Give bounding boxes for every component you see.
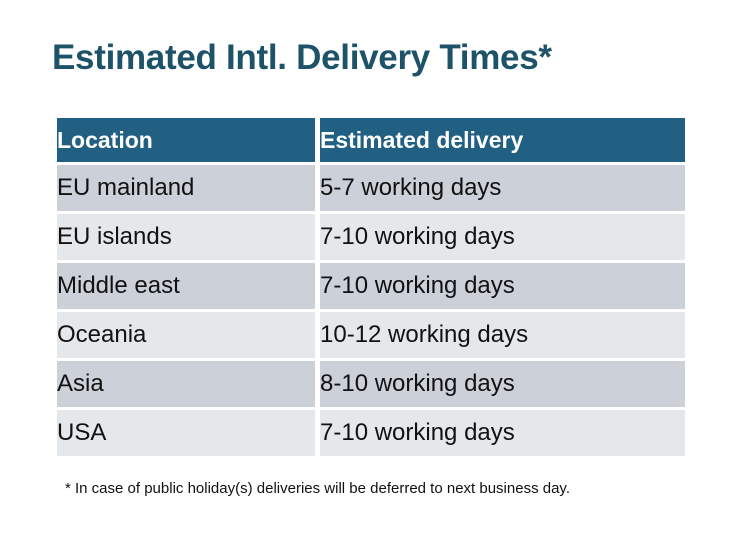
table-row: USA 7-10 working days [57, 410, 685, 456]
footnote-text: * In case of public holiday(s) deliverie… [65, 480, 570, 497]
cell-location: Oceania [57, 312, 315, 358]
cell-delivery: 8-10 working days [320, 361, 685, 407]
column-header-estimated-delivery[interactable]: Estimated delivery [320, 118, 685, 162]
table-header: Location Estimated delivery [57, 118, 685, 162]
cell-location: Asia [57, 361, 315, 407]
cell-delivery: 7-10 working days [320, 410, 685, 456]
table-row: EU mainland 5-7 working days [57, 165, 685, 211]
cell-location: EU islands [57, 214, 315, 260]
table-header-row: Location Estimated delivery [57, 118, 685, 162]
cell-location: Middle east [57, 263, 315, 309]
cell-location: EU mainland [57, 165, 315, 211]
page-title: Estimated Intl. Delivery Times* [52, 38, 552, 78]
table-body: EU mainland 5-7 working days EU islands … [57, 165, 685, 456]
table-row: EU islands 7-10 working days [57, 214, 685, 260]
cell-location: USA [57, 410, 315, 456]
table-row: Middle east 7-10 working days [57, 263, 685, 309]
delivery-times-page: Estimated Intl. Delivery Times* Location… [0, 0, 745, 536]
cell-delivery: 10-12 working days [320, 312, 685, 358]
table-row: Oceania 10-12 working days [57, 312, 685, 358]
delivery-times-table: Location Estimated delivery EU mainland … [52, 115, 690, 459]
cell-delivery: 7-10 working days [320, 214, 685, 260]
table-row: Asia 8-10 working days [57, 361, 685, 407]
cell-delivery: 7-10 working days [320, 263, 685, 309]
cell-delivery: 5-7 working days [320, 165, 685, 211]
column-header-location[interactable]: Location [57, 118, 315, 162]
